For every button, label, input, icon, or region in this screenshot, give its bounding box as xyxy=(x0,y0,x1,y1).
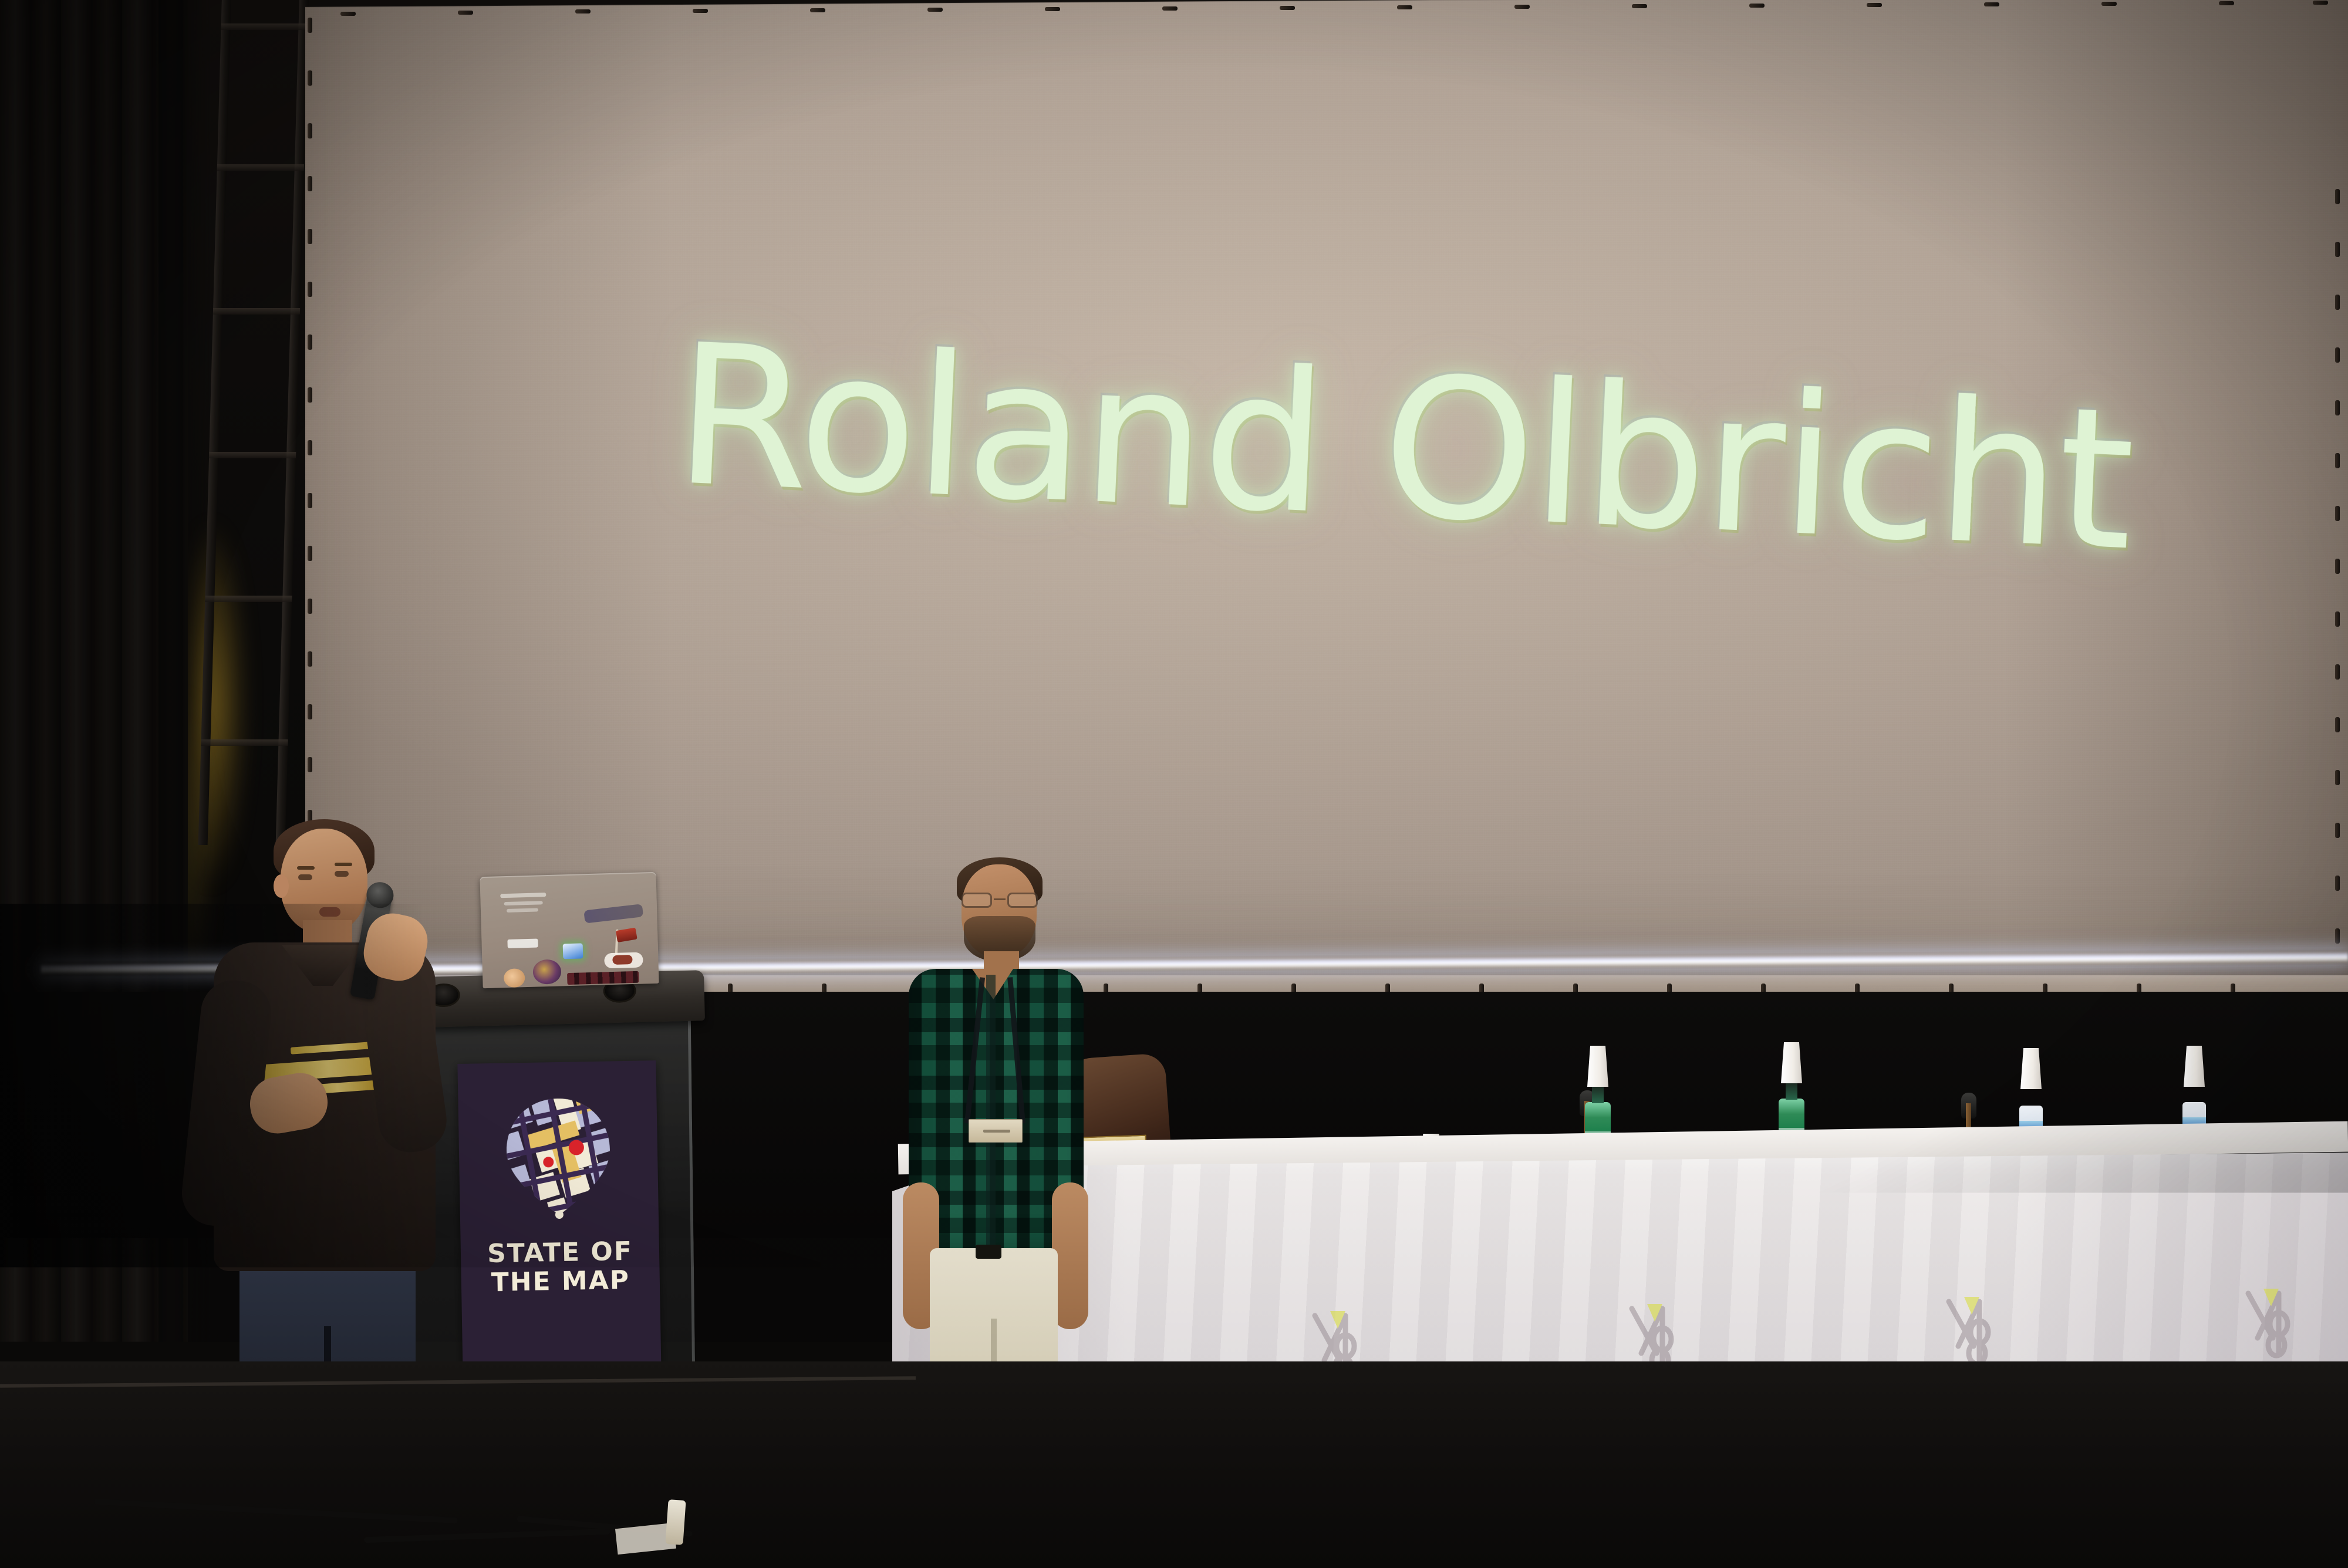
stage-photograph-scene: Roland Olbricht xyxy=(0,0,2348,1568)
sticker-blue-badge xyxy=(563,943,583,959)
sticker-circular xyxy=(532,959,561,984)
banner-title-line-1: STATE OF xyxy=(487,1236,633,1269)
stage-curtain-left xyxy=(0,0,188,1568)
bottle-neck xyxy=(1592,1087,1604,1103)
speaker-eye xyxy=(298,874,312,880)
speaker-eye xyxy=(335,871,349,877)
glasses-lens-left xyxy=(962,893,992,908)
speaker-mouth xyxy=(319,907,340,917)
sticker-cloud-accent xyxy=(612,955,632,965)
truss-rung xyxy=(217,164,304,171)
speaker-eyebrow xyxy=(297,866,315,870)
speaker-eyebrow xyxy=(335,863,352,866)
banner-title: STATE OF THE MAP xyxy=(461,1236,660,1297)
sticker-script-logo xyxy=(583,904,643,923)
sticker-text xyxy=(507,908,538,913)
state-of-the-map-map-pin-logo xyxy=(501,1093,615,1221)
sticker-red-flag xyxy=(616,928,637,942)
sticker-round-peach xyxy=(504,968,525,988)
truss-rung xyxy=(201,739,288,746)
sticker-text xyxy=(500,893,546,898)
sponsor-monogram-logo xyxy=(1943,1290,2013,1372)
laptop-lid xyxy=(480,872,659,988)
conference-lanyard xyxy=(969,977,1023,1124)
paper-cup xyxy=(1587,1046,1608,1087)
belt-clip xyxy=(976,1245,1001,1259)
banner-title-line-2: THE MAP xyxy=(491,1265,630,1297)
sponsor-monogram-logo xyxy=(2242,1282,2313,1364)
glasses-bridge xyxy=(994,898,1006,900)
speaker-head xyxy=(281,829,367,933)
laptop xyxy=(480,872,659,988)
badge-name-text xyxy=(983,1130,1010,1133)
truss-rung xyxy=(221,23,308,30)
truss-rung xyxy=(213,308,300,315)
speaker-ear xyxy=(274,874,289,898)
bottle-on-floor xyxy=(665,1499,686,1545)
sticker-bar xyxy=(567,971,639,985)
glasses-lens-right xyxy=(1007,893,1038,908)
bottle-neck xyxy=(1786,1083,1797,1100)
sticker-label xyxy=(507,939,538,948)
truss-rung xyxy=(205,596,292,602)
conference-badge xyxy=(969,1119,1023,1143)
truss-rung xyxy=(209,452,296,458)
glasses-icon xyxy=(960,893,1039,908)
paper-cup xyxy=(1781,1042,1802,1083)
paper-cup xyxy=(2020,1048,2042,1089)
paper-cup xyxy=(2184,1046,2205,1087)
stage-floor xyxy=(0,1361,2348,1568)
sticker-text xyxy=(504,901,543,905)
